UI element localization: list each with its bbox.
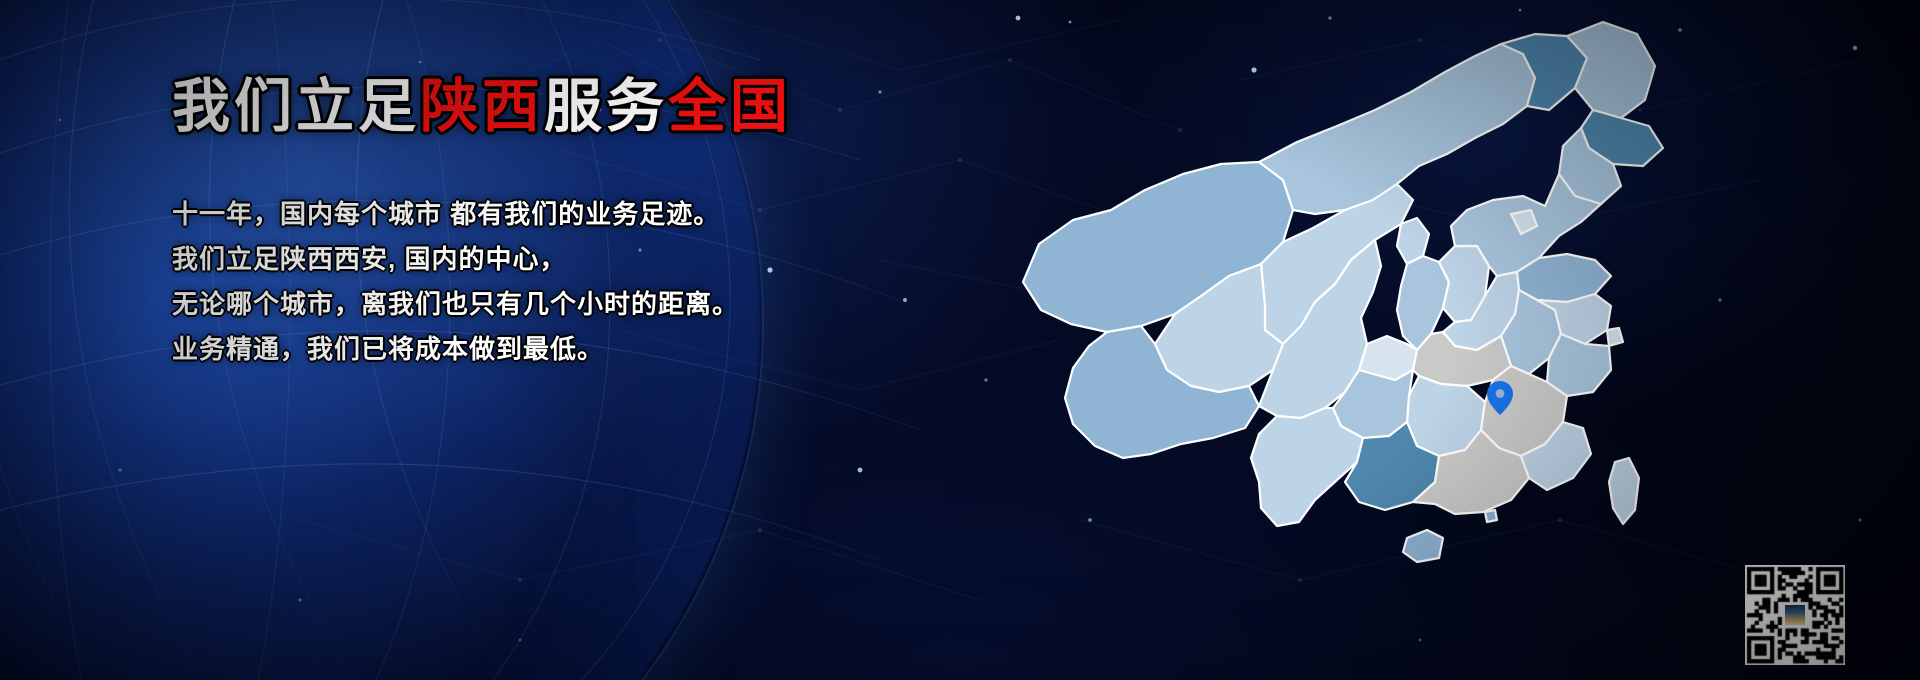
page-title: 我们立足陕西服务全国 [172,78,952,136]
china-map [1015,14,1815,674]
wechat-qr-code[interactable] [1745,565,1845,665]
headline-accent-1: 陕西 [420,74,544,139]
headline-part-2: 服务 [544,74,668,139]
copy-block: 我们立足陕西服务全国 十一年，国内每个城市 都有我们的业务足迹。 我们立足陕西西… [172,78,952,372]
body-copy: 十一年，国内每个城市 都有我们的业务足迹。 我们立足陕西西安, 国内的中心， 无… [172,192,952,372]
banner-stage: 我们立足陕西服务全国 十一年，国内每个城市 都有我们的业务足迹。 我们立足陕西西… [0,0,1920,680]
headline-accent-2: 全国 [668,74,792,139]
location-pin[interactable] [1487,381,1513,415]
body-line-2: 我们立足陕西西安, 国内的中心， [172,237,952,282]
body-line-4: 业务精通，我们已将成本做到最低。 [172,327,952,372]
body-line-1: 十一年，国内每个城市 都有我们的业务足迹。 [172,192,952,237]
headline-part-1: 我们立足 [172,74,420,139]
map-pin-icon [1487,381,1513,415]
qr-center-logo [1783,603,1807,627]
body-line-3: 无论哪个城市，离我们也只有几个小时的距离。 [172,282,952,327]
